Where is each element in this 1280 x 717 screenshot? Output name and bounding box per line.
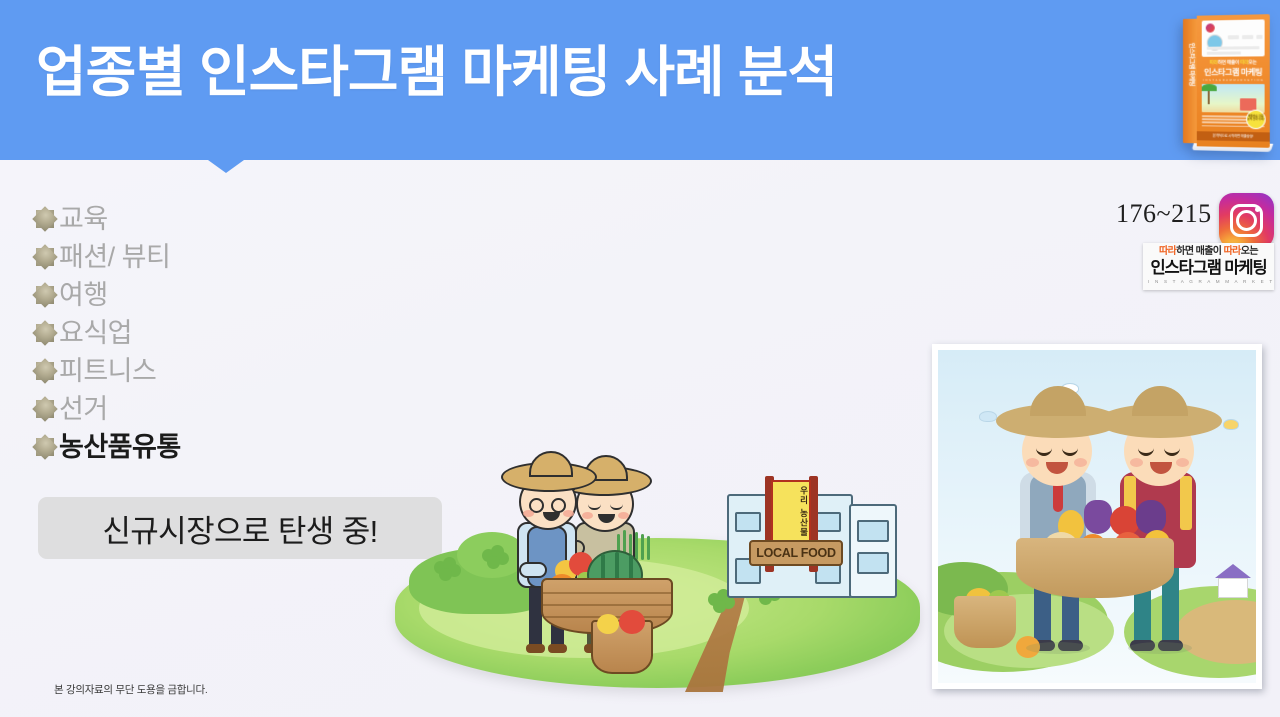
window-shape <box>857 552 889 574</box>
photo-produce-basket <box>1016 538 1174 598</box>
eight-point-star-icon <box>34 322 56 344</box>
list-item[interactable]: 여행 <box>34 276 454 314</box>
list-item-label: 패션/ 뷰티 <box>59 244 170 271</box>
book-banner-highlight-b: 따라 <box>1224 246 1241 257</box>
book-cover-bottom-band: 본격적으로 시작하면 매출상승! <box>1197 131 1270 141</box>
copyright-note: 본 강의자료의 무단 도용을 금합니다. <box>54 682 208 697</box>
photo-small-basket <box>954 596 1016 648</box>
local-food-sign-text: LOCAL FOOD <box>756 546 835 560</box>
book-spine: 인스타그램 마케팅 <box>1183 19 1197 144</box>
farmer-characters-group <box>503 452 693 664</box>
list-item[interactable]: 교육 <box>34 200 454 238</box>
eight-point-star-icon <box>34 284 56 306</box>
list-item-label: 여행 <box>59 282 108 309</box>
book-banner-end: 오는 <box>1241 246 1258 257</box>
illustration-canvas <box>938 350 1256 683</box>
list-item-label: 선거 <box>59 396 108 423</box>
window-shape <box>857 520 889 542</box>
local-food-building: 우리 농산물 LOCAL FOOD <box>727 480 899 598</box>
farmer-left-straw-hat <box>501 462 597 492</box>
eight-point-star-icon <box>34 360 56 382</box>
book-spine-title: 인스타그램 마케팅 <box>1188 43 1197 168</box>
list-item-label: 농산품유통 <box>59 434 181 461</box>
apple-icon <box>619 610 645 634</box>
list-item[interactable]: 요식업 <box>34 314 454 352</box>
clover-icon <box>487 556 500 569</box>
ground-shadow <box>1026 642 1090 654</box>
highlight-text: 신규시장으로 탄생 중! <box>102 506 377 551</box>
yellow-pepper-icon <box>597 614 619 634</box>
industry-list: 교육 패션/ 뷰티 여행 요식업 피트니스 선거 농산품유통 <box>34 200 454 466</box>
header-notch-icon <box>208 160 244 173</box>
instagram-lens-shape <box>1236 210 1257 231</box>
book-banner-line3: I N S T A G R A M M A R K E T I N G <box>1148 279 1269 284</box>
book-browser-mock <box>1202 19 1265 56</box>
list-item[interactable]: 피트니스 <box>34 352 454 390</box>
book-cover-3d: 인스타그램 마케팅 따라하면 매출이 따라오는 인스타그램 마케팅 I N S … <box>1183 14 1270 148</box>
farmhouse-roof-icon <box>1215 564 1251 578</box>
page-range-label: 176~215 <box>1116 199 1212 229</box>
eight-point-star-icon <box>34 436 56 458</box>
book-cover-illustration <box>1202 84 1265 113</box>
local-food-sign: LOCAL FOOD <box>749 540 843 566</box>
slide-canvas: 업종별 인스타그램 마케팅 사례 분석 인스타그램 마케팅 따라하면 매출이 따… <box>0 0 1280 717</box>
list-item-label: 요식업 <box>59 320 132 347</box>
book-cover-badge: 매출상승 집중분석 전략 수록! <box>1246 110 1266 130</box>
clover-icon <box>713 600 726 613</box>
palm-tree-icon <box>1208 88 1210 104</box>
list-item-active[interactable]: 농산품유통 <box>34 428 454 466</box>
book-title-banner: 따라하면 매출이 따라오는 인스타그램 마케팅 I N S T A G R A … <box>1143 243 1274 290</box>
eight-point-star-icon <box>34 208 56 230</box>
building-right-shape <box>849 504 897 598</box>
book-banner-mid: 하면 매출이 <box>1176 246 1223 257</box>
farmers-local-food-illustration: 우리 농산물 LOCAL FOOD <box>395 452 920 692</box>
list-item[interactable]: 선거 <box>34 390 454 428</box>
instagram-dot-shape <box>1255 207 1260 212</box>
book-banner-line2: 인스타그램 마케팅 <box>1148 259 1269 277</box>
framed-illustration <box>932 344 1262 689</box>
window-shape <box>815 512 841 532</box>
ground-shadow <box>1128 642 1192 654</box>
eggplant-icon <box>1136 500 1166 534</box>
bird-icon <box>980 412 996 421</box>
eggplant-icon <box>1084 500 1112 534</box>
book-cover-title: 따라하면 매출이 따라오는 인스타그램 마케팅 I N S T A G R A … <box>1201 59 1266 82</box>
highlight-callout: 신규시장으로 탄생 중! <box>38 497 442 559</box>
clover-icon <box>439 568 452 581</box>
list-item-label: 교육 <box>59 206 108 233</box>
eight-point-star-icon <box>34 246 56 268</box>
banner-text: 우리 농산물 <box>777 486 809 537</box>
page-title: 업종별 인스타그램 마케팅 사례 분석 <box>36 38 837 107</box>
book-front-cover: 따라하면 매출이 따라오는 인스타그램 마케팅 I N S T A G R A … <box>1197 14 1270 148</box>
book-banner-highlight-a: 따라 <box>1159 246 1176 257</box>
instagram-icon[interactable] <box>1219 193 1274 248</box>
photo-farmer-left-hat <box>996 404 1120 438</box>
korean-produce-banner: 우리 농산물 <box>771 480 811 546</box>
list-item-label: 피트니스 <box>59 358 156 385</box>
book-banner-line1: 따라하면 매출이 따라오는 <box>1148 247 1269 258</box>
book-instagram-dot-icon <box>1206 23 1215 32</box>
list-item[interactable]: 패션/ 뷰티 <box>34 238 454 276</box>
eight-point-star-icon <box>34 398 56 420</box>
window-shape <box>735 512 761 532</box>
bird-icon <box>1224 420 1238 429</box>
farmhouse-icon <box>1218 578 1248 598</box>
